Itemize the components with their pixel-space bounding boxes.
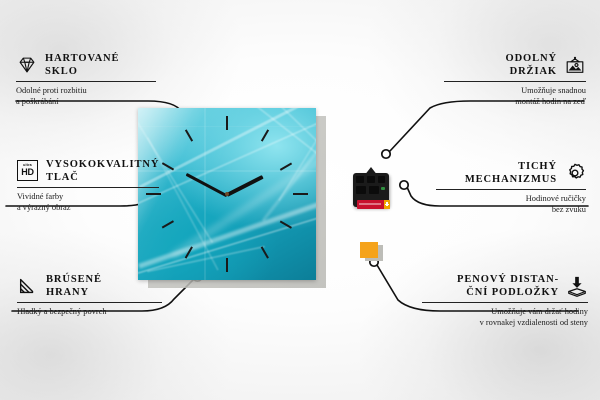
feature-title-line1: HARTOVANÉ <box>45 52 119 65</box>
feature-desc-line1: Hladký a bezpečný povrch <box>17 307 162 318</box>
connector-dot-right-top <box>382 150 390 158</box>
feature-title-line2: SKLO <box>45 65 119 78</box>
feature-title-line2: MECHANIZMUS <box>465 173 557 186</box>
foam-pad-icon <box>566 275 588 297</box>
clock-center-pin <box>225 192 229 196</box>
connector-dot-right-middle <box>400 181 408 189</box>
feature-title-line1: ODOLNÝ <box>506 52 558 65</box>
feature-divider <box>444 81 586 82</box>
feature-title-line1: PENOVÝ DISTAN- <box>457 273 559 286</box>
feature-desc-line1: Vividné farby <box>17 192 159 203</box>
feature-divider <box>16 81 156 82</box>
feature-foam-spacer-pads: PENOVÝ DISTAN- ČNÍ PODLOŽKY Umožňuje vám… <box>422 273 588 328</box>
feature-polished-edges: BRÚSENÉ HRANY Hladký a bezpečný povrch <box>17 273 162 318</box>
feature-durable-hanger: ODOLNÝ DRŽIAK Umožňuje snadnou montáž ho… <box>444 52 586 107</box>
feature-divider <box>17 187 159 188</box>
polished-edges-icon <box>17 275 39 297</box>
feature-desc-line2: bez zvuku <box>436 205 586 216</box>
feature-silent-mechanism: TICHÝ MECHANIZMUS Hodinové ručičky bez z… <box>436 160 586 215</box>
feature-title-line1: VYSOKOKVALITNÝ <box>46 158 159 171</box>
feature-desc-line1: Hodinové ručičky <box>436 194 586 205</box>
feature-desc-line1: Odolné proti rozbitiu <box>16 86 156 97</box>
feature-title-line2: ČNÍ PODLOŽKY <box>457 286 559 299</box>
feature-desc-line2: v rovnakej vzdialenosti od steny <box>422 318 588 329</box>
gear-icon <box>564 162 586 184</box>
clock-face <box>138 108 316 280</box>
feature-high-quality-print: ultra HD VYSOKOKVALITNÝ TLAČ Vividné far… <box>17 158 159 213</box>
feature-title-line2: DRŽIAK <box>506 65 558 78</box>
mechanism-body <box>353 173 389 207</box>
feature-desc-line2: montáž hodin na zeď <box>444 97 586 108</box>
feature-divider <box>436 189 586 190</box>
feature-divider <box>422 302 588 303</box>
feature-divider <box>17 302 162 303</box>
diamond-icon <box>16 54 38 76</box>
ultra-hd-icon: ultra HD <box>17 160 39 182</box>
feature-title-line1: BRÚSENÉ <box>46 273 102 286</box>
product-clock <box>138 108 316 280</box>
feature-desc-line1: Umožňuje vám držať hodiny <box>422 307 588 318</box>
foam-spacer-pad <box>360 242 380 260</box>
feature-desc-line2: a poškrábání <box>16 97 156 108</box>
feature-desc-line2: a výrazný obraz <box>17 203 159 214</box>
product-infographic: HARTOVANÉ SKLO Odolné proti rozbitiu a p… <box>0 0 600 400</box>
ultra-hd-icon-main-text: HD <box>21 168 34 177</box>
feature-tempered-glass: HARTOVANÉ SKLO Odolné proti rozbitiu a p… <box>16 52 156 107</box>
feature-title-line1: TICHÝ <box>465 160 557 173</box>
feature-desc-line1: Umožňuje snadnou <box>444 86 586 97</box>
feature-title-line2: TLAČ <box>46 171 159 184</box>
connector-right-top <box>390 101 584 151</box>
foam-pad-top <box>360 242 378 258</box>
feature-title-line2: HRANY <box>46 286 102 299</box>
clock-mechanism <box>351 167 391 209</box>
mechanism-battery <box>357 200 390 209</box>
picture-hanger-icon <box>564 54 586 76</box>
